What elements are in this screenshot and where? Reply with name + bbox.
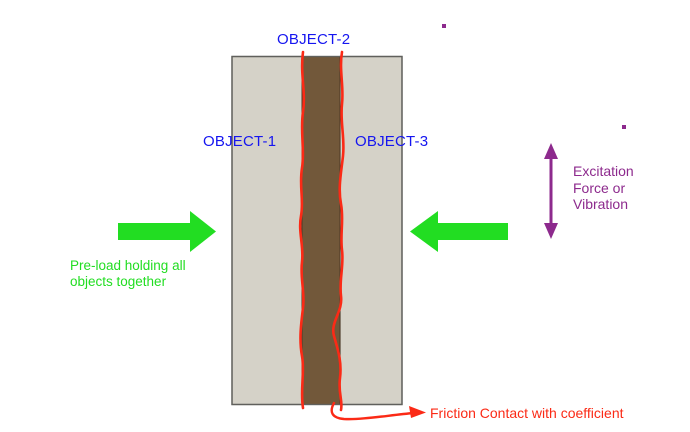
preload-arrow-right [410,211,508,252]
friction-pointer-arrow [332,403,426,419]
preload-annotation-label: Pre-load holding all objects together [70,258,186,290]
object-2-label: OBJECT-2 [277,31,350,49]
object-3-block [340,57,402,405]
object-3-label: OBJECT-3 [355,133,428,151]
diagram-canvas: OBJECT-1 OBJECT-2 OBJECT-3 Pre-load hold… [0,0,690,432]
diagram-graphics [0,0,690,432]
preload-arrow-left [118,211,216,252]
excitation-annotation-label: Excitation Force or Vibration [573,163,634,213]
marker-dot-right-icon [622,125,626,129]
object-2-block [302,57,340,405]
friction-contact-annotation-label: Friction Contact with coefficient [430,405,624,422]
object-1-label: OBJECT-1 [203,133,276,151]
marker-dot-top-icon [442,24,446,28]
object-1-block [232,57,303,405]
excitation-arrow [544,143,558,239]
